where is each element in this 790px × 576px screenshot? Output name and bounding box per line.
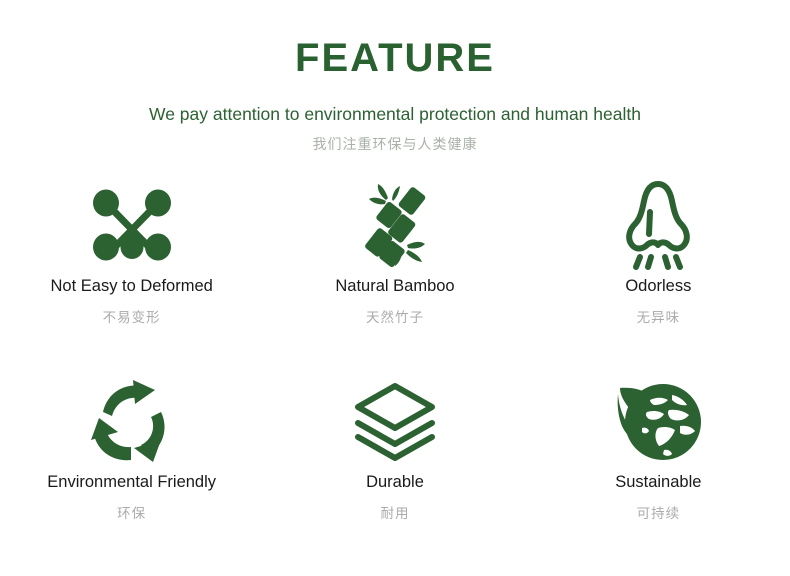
molecule-lattice-icon: [89, 177, 175, 273]
feature-card-durable: Durable 耐用: [263, 373, 526, 569]
feature-grid: Not Easy to Deformed 不易变形: [0, 177, 790, 569]
bamboo-icon: [352, 177, 438, 273]
feature-card-environmental-friendly: Environmental Friendly 环保: [0, 373, 263, 569]
feature-label: Natural Bamboo: [335, 277, 454, 297]
section-header: FEATURE We pay attention to environmenta…: [0, 0, 790, 153]
page-title: FEATURE: [0, 36, 790, 80]
feature-label-chinese: 环保: [117, 506, 146, 522]
feature-card-natural-bamboo: Natural Bamboo 天然竹子: [263, 177, 526, 373]
subtitle-chinese: 我们注重环保与人类健康: [0, 136, 790, 153]
feature-label: Durable: [366, 473, 424, 493]
feature-card-sustainable: Sustainable 可持续: [527, 373, 790, 569]
recycle-icon: [89, 373, 175, 469]
layers-stack-icon: [352, 373, 438, 469]
feature-label: Sustainable: [615, 473, 701, 493]
feature-label: Environmental Friendly: [47, 473, 216, 493]
feature-section: FEATURE We pay attention to environmenta…: [0, 0, 790, 576]
feature-label-chinese: 耐用: [380, 506, 409, 522]
feature-label-chinese: 天然竹子: [366, 310, 424, 326]
feature-label-chinese: 可持续: [637, 506, 681, 522]
feature-label: Odorless: [625, 277, 691, 297]
feature-label-chinese: 不易变形: [103, 310, 161, 326]
feature-card-not-easy-to-deformed: Not Easy to Deformed 不易变形: [0, 177, 263, 373]
feature-label-chinese: 无异味: [637, 310, 681, 326]
feature-label: Not Easy to Deformed: [51, 277, 213, 297]
subtitle-english: We pay attention to environmental protec…: [0, 104, 790, 125]
feature-card-odorless: Odorless 无异味: [527, 177, 790, 373]
nose-icon: [620, 177, 696, 273]
globe-leaf-icon: [614, 373, 702, 469]
